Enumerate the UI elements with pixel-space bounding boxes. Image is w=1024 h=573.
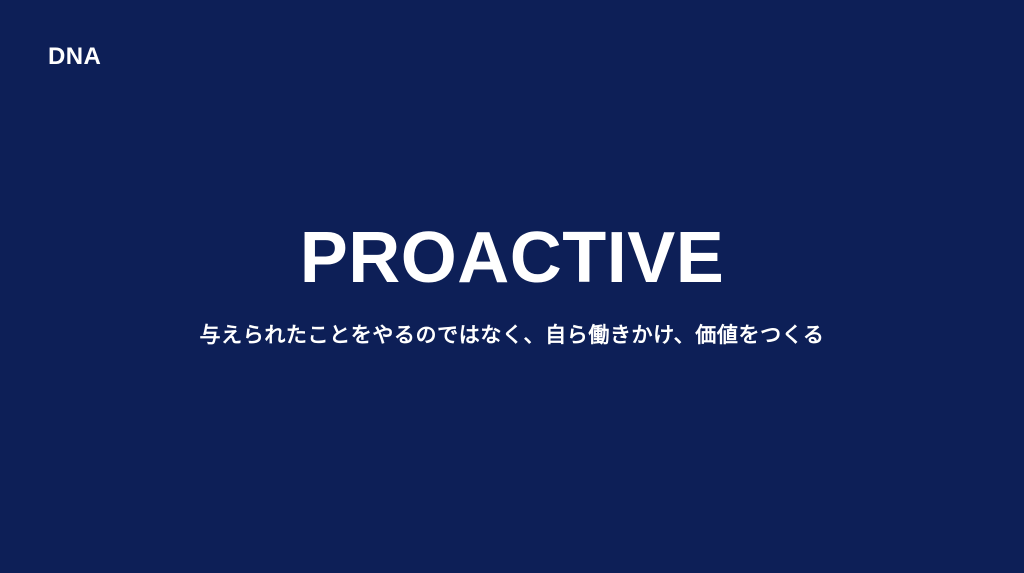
section-label: DNA (48, 45, 101, 69)
slide-content: PROACTIVE 与えられたことをやるのではなく、自ら働きかけ、価値をつくる (0, 222, 1024, 350)
page-title: PROACTIVE (0, 222, 1024, 294)
slide-canvas: DNA PROACTIVE 与えられたことをやるのではなく、自ら働きかけ、価値を… (0, 0, 1024, 573)
subtitle-text: 与えられたことをやるのではなく、自ら働きかけ、価値をつくる (0, 321, 1024, 350)
